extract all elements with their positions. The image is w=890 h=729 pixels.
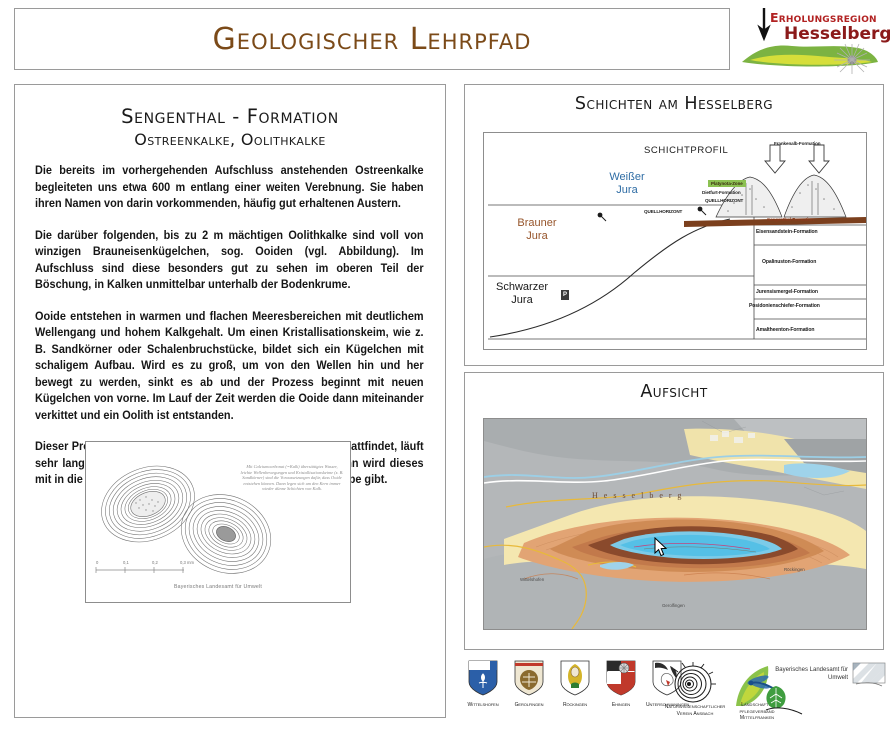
paragraph-3: Ooide entstehen in warmen und flachen Me… — [35, 309, 424, 425]
info-board: Geologischer Lehrpfad Erholungsregion — [0, 0, 890, 729]
formation-title: Sengenthal - Formation — [35, 105, 425, 128]
formation-eisensandstein: Eisensandstein-Formation — [756, 229, 818, 235]
left-content-panel: Sengenthal - Formation Ostreenkalke, Ool… — [14, 84, 446, 718]
strata-heading: Schichten am Hesselberg — [465, 94, 883, 114]
bavaria-emblem — [852, 662, 886, 697]
logo-line-1: Erholungsregion — [770, 10, 877, 25]
mouse-cursor — [654, 537, 668, 557]
paragraph-2: Die darüber folgenden, bis zu 2 m mächti… — [35, 228, 424, 294]
crest-label-ehingen: Ehingen — [600, 702, 642, 708]
lfu-leaf-icon — [762, 684, 808, 718]
scale-tick-0: 0 — [96, 560, 98, 565]
crest-shield-icon — [560, 660, 590, 696]
formation-amaltheenton: Amaltheenton-Formation — [756, 327, 814, 333]
frankenalb-formation-label: Frankenalb-Formation — [774, 141, 821, 146]
quellhorizont-label-lower: QUELLHORIZONT — [644, 209, 682, 214]
formation-subtitle: Ostreenkalke, Oolithkalke — [35, 130, 425, 149]
p-marker: P — [561, 290, 569, 300]
brauner-jura-line1: Brauner — [510, 217, 564, 230]
map-place-gerolfingen: Gerolfingen — [662, 603, 685, 608]
sengenthal-formation-label: Sengenthal-Formation — [767, 217, 814, 222]
lfu-label-line1: Bayerisches Landesamt für — [762, 666, 848, 674]
map-place-wittelshofen: Wittelshofen — [520, 577, 544, 582]
crest-gerolfingen: Gerolfingen — [508, 660, 550, 708]
crest-shield-icon — [468, 660, 498, 696]
crest-shield-icon — [514, 660, 544, 696]
crest-ehingen: Ehingen — [600, 660, 642, 708]
municipal-crests: Wittelshofen Gerolfingen Röcki — [462, 660, 688, 708]
strata-panel: Schichten am Hesselberg — [464, 84, 884, 366]
crest-roeckingen: Röckingen — [554, 660, 596, 708]
map-place-roeckingen: Röckingen — [784, 567, 805, 572]
schichtprofil-label: SCHICHTPROFIL — [644, 145, 728, 156]
platynota-zone-label: Platynota-Zone — [708, 180, 746, 187]
crest-label-wittelshofen: Wittelshofen — [462, 702, 504, 708]
dietfurt-formation-label: Dietfurt-Formation — [702, 190, 741, 195]
bavaria-lozenge-icon — [852, 662, 886, 692]
brauner-jura-line2: Jura — [510, 230, 564, 243]
lfu-logo — [762, 684, 808, 723]
schwarzer-jura-line2: Jura — [490, 294, 554, 307]
paragraph-1: Die bereits im vorhergehenden Aufschluss… — [35, 163, 424, 213]
page-title: Geologischer Lehrpfad — [213, 22, 532, 57]
crest-label-gerolfingen: Gerolfingen — [508, 702, 550, 708]
crest-wittelshofen: Wittelshofen — [462, 660, 504, 708]
hesselberg-logo: Erholungsregion Hesselberg — [740, 4, 882, 74]
header-bar: Geologischer Lehrpfad — [14, 8, 730, 70]
strata-profile-diagram: SCHICHTPROFIL Weißer Jura Brauner Jura S… — [483, 132, 867, 350]
formation-posidonienschiefer: Posidonienschiefer-Formation — [749, 303, 820, 309]
nwv-label-line2: Verein Ansbach — [660, 711, 730, 718]
nwv-label-line1: Naturwissenschaftlicher — [660, 704, 730, 711]
ooid-scale-labels: 0 0,1 0,2 0,3 mm — [96, 560, 216, 570]
formation-jurensismergel: Jurensismergel-Formation — [756, 289, 818, 295]
schwarzer-jura-label: Schwarzer Jura — [490, 281, 554, 307]
crest-label-roeckingen: Röckingen — [554, 702, 596, 708]
crest-shield-icon — [606, 660, 636, 696]
figure-source: Bayerisches Landesamt für Umwelt — [86, 584, 350, 590]
brauner-jura-label: Brauner Jura — [510, 217, 564, 243]
aerial-panel: Aufsicht — [464, 372, 884, 650]
map-ridge-label: Hesselberg — [592, 491, 687, 500]
aufsicht-heading: Aufsicht — [465, 382, 883, 402]
scale-tick-3: 0,3 mm — [180, 560, 194, 565]
lfu-label-line2: Umwelt — [762, 674, 848, 682]
ooid-caption: Mit Calciumcarbonat (=Kalk) übersättigte… — [240, 464, 344, 492]
logo-line-2: Hesselberg — [784, 24, 890, 44]
map-svg — [484, 419, 866, 629]
weisser-jura-label: Weißer Jura — [600, 171, 654, 197]
quellhorizont-label-upper: QUELLHORIZONT — [705, 198, 743, 203]
ooid-figure: Mit Calciumcarbonat (=Kalk) übersättigte… — [85, 441, 351, 603]
geological-map[interactable]: Hesselberg Wittelshofen Gerolfingen Röck… — [483, 418, 867, 630]
lfu-label: Bayerisches Landesamt für Umwelt — [762, 666, 848, 682]
footer-logos: Wittelshofen Gerolfingen Röcki — [462, 660, 886, 726]
scale-tick-2: 0,2 — [152, 560, 158, 565]
nwv-ansbach-label: Naturwissenschaftlicher Verein Ansbach — [660, 704, 730, 717]
weisser-jura-line2: Jura — [600, 184, 654, 197]
weisser-jura-line1: Weißer — [600, 171, 654, 184]
schwarzer-jura-line1: Schwarzer — [490, 281, 554, 294]
ammonite-icon — [667, 662, 719, 706]
formation-opalinuston: Opalinuston-Formation — [762, 259, 816, 265]
scale-tick-1: 0,1 — [123, 560, 129, 565]
